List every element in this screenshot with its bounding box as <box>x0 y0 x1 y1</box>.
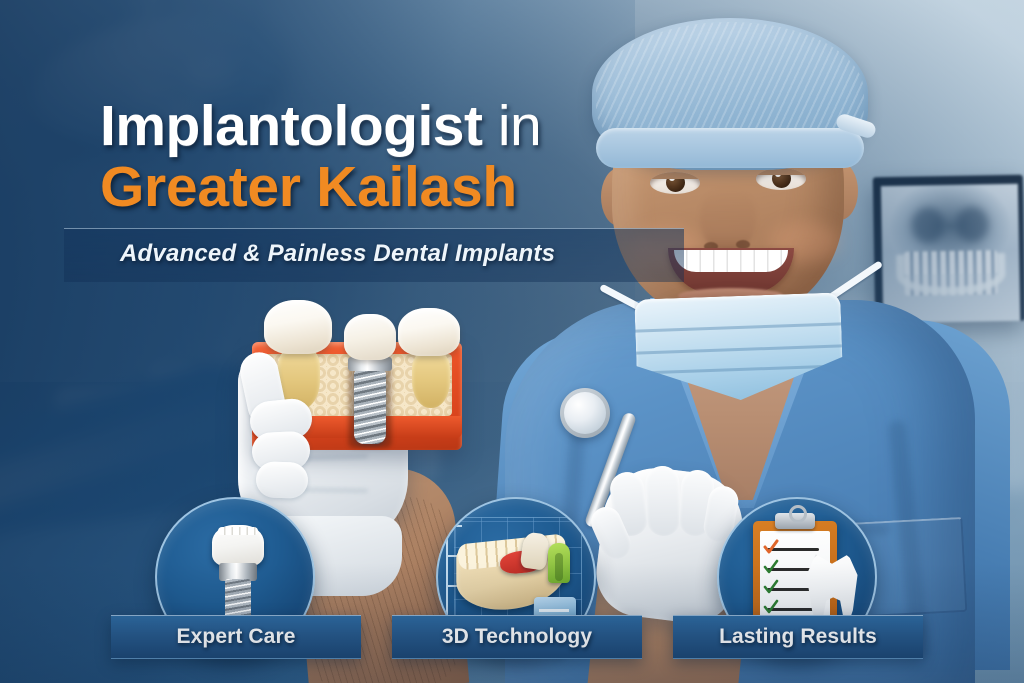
headline-block: Implantologist in Greater Kailash <box>100 96 620 218</box>
model-tooth-crown-right <box>398 308 460 356</box>
dental-mirror-glass <box>564 392 606 434</box>
subtitle-text: Advanced & Painless Dental Implants <box>120 240 555 268</box>
eye-right <box>756 168 806 190</box>
surgical-cap-band <box>596 128 864 168</box>
clipboard-clip-icon <box>775 513 815 529</box>
model-tooth-root-right <box>412 352 450 408</box>
dental-mirror-icon <box>560 388 610 438</box>
headline-keyword: Implantologist <box>100 94 482 158</box>
mask-pleat-2 <box>636 344 842 354</box>
dental-implant-banner: Implantologist in Greater Kailash Advanc… <box>0 0 1024 683</box>
implant-crown-icon <box>212 525 264 567</box>
glove-right-finger-2 <box>645 465 681 536</box>
headline-line-1: Implantologist in <box>100 96 620 156</box>
model-implant-screw-icon <box>354 370 386 444</box>
headline-location: Greater Kailash <box>100 156 620 218</box>
mask-pleat-1 <box>635 322 841 332</box>
upper-teeth <box>674 250 788 272</box>
eye-left <box>650 172 700 194</box>
model-tooth-crown-left <box>264 300 332 354</box>
glove-left-finger-3 <box>255 461 308 499</box>
model-implant-crown <box>344 314 396 360</box>
headline-connector: in <box>482 94 541 158</box>
bottom-shade <box>0 563 1024 683</box>
eyelid-left <box>650 172 700 179</box>
checkmark-icon-1 <box>763 539 779 555</box>
